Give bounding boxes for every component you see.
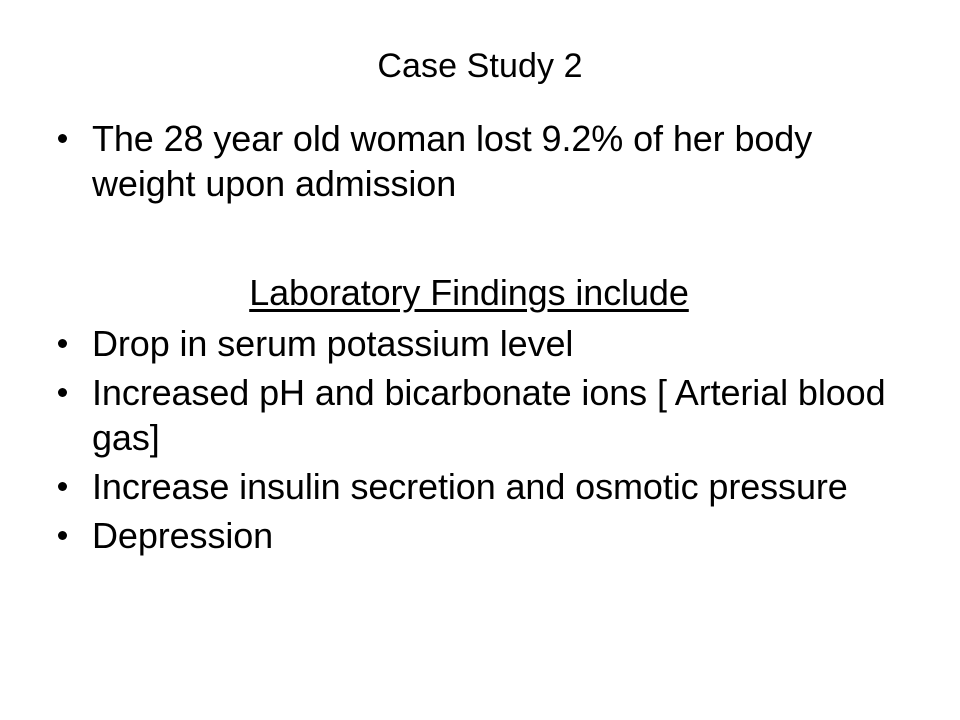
list-item: Drop in serum potassium level: [48, 321, 910, 366]
bullet-dot-icon: [58, 339, 67, 348]
list-item-label: Depression: [92, 513, 910, 558]
page-title: Case Study 2: [0, 46, 960, 86]
section-heading: Laboratory Findings include: [48, 270, 910, 315]
bullet-dot-icon: [58, 482, 67, 491]
list-item: Increased pH and bicarbonate ions [ Arte…: [48, 370, 910, 460]
list-item: Increase insulin secretion and osmotic p…: [48, 464, 910, 509]
list-item-label: The 28 year old woman lost 9.2% of her b…: [92, 116, 910, 206]
section-heading-label: Laboratory Findings include: [249, 272, 689, 313]
list-item-label: Drop in serum potassium level: [92, 321, 910, 366]
slide-canvas: Case Study 2 The 28 year old woman lost …: [0, 0, 960, 720]
bullet-dot-icon: [58, 388, 67, 397]
list-item: The 28 year old woman lost 9.2% of her b…: [48, 116, 910, 206]
blank-line-spacer: [48, 212, 910, 270]
list-item-label: Increased pH and bicarbonate ions [ Arte…: [92, 370, 910, 460]
bullet-dot-icon: [58, 134, 67, 143]
list-item-label: Increase insulin secretion and osmotic p…: [92, 464, 910, 509]
bullet-dot-icon: [58, 531, 67, 540]
list-item: Depression: [48, 513, 910, 558]
slide-body: The 28 year old woman lost 9.2% of her b…: [48, 116, 910, 562]
